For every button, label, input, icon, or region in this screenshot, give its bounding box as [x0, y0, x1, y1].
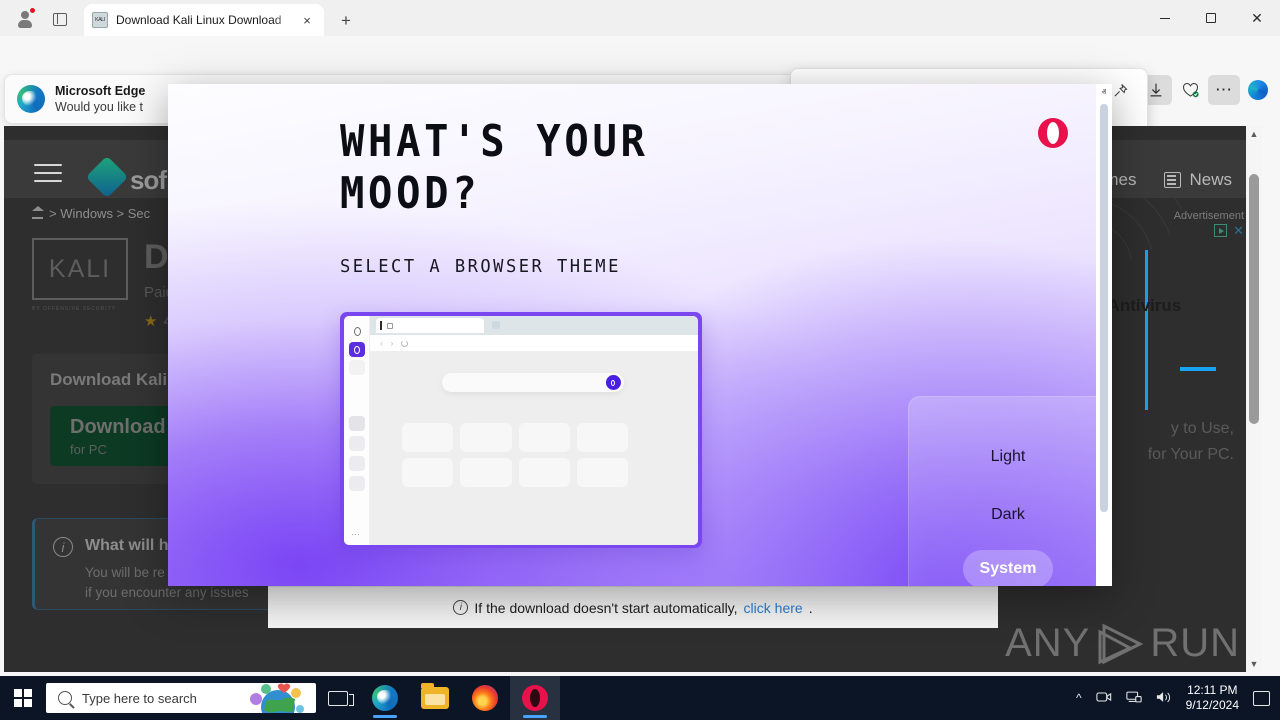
- page-scrollbar[interactable]: ▲ ▼: [1246, 126, 1262, 672]
- preview-sidebar-active-item: [349, 342, 365, 357]
- anyrun-watermark: ANY RUN: [1005, 621, 1240, 666]
- taskbar-clock[interactable]: 12:11 PM 9/12/2024: [1186, 683, 1239, 713]
- profile-button[interactable]: [12, 6, 38, 32]
- breadcrumb-text: > Windows > Sec: [49, 206, 150, 221]
- tab-title: Download Kali Linux Download: [116, 13, 298, 27]
- app-logo-text: KALI: [49, 255, 111, 284]
- search-illustration: [226, 683, 312, 713]
- preview-forward-icon: ›: [391, 339, 394, 348]
- preview-speed-dial: [370, 351, 698, 545]
- preview-tile: [577, 458, 628, 487]
- opera-theme-dialog: WHAT'S YOUR MOOD? SELECT A BROWSER THEME…: [168, 84, 1112, 586]
- softonic-logo-icon: [86, 156, 128, 198]
- ad-line-2: for Your PC.: [1148, 446, 1234, 464]
- browser-theme-preview: ⋯ ‹ ›: [340, 312, 702, 548]
- dialog-scroll-track[interactable]: [1096, 100, 1112, 570]
- search-icon: [58, 691, 72, 705]
- download-button-sublabel: for PC: [70, 442, 107, 457]
- preview-sidebar-more-icon: ⋯: [351, 532, 361, 536]
- network-icon[interactable]: [1126, 690, 1142, 707]
- dialog-scroll-down-icon[interactable]: ⱟ: [1096, 570, 1112, 586]
- close-icon: ✕: [1251, 11, 1263, 25]
- info-panel-line2: if you encounter any issues: [85, 585, 249, 600]
- browser-essentials-button[interactable]: [1174, 75, 1206, 105]
- tab-close-icon[interactable]: ×: [298, 11, 316, 29]
- system-tray: ^ 12:11 PM 9/12/2024: [1076, 683, 1280, 713]
- preview-tile: [519, 458, 570, 487]
- file-explorer-icon: [421, 687, 449, 709]
- ad-accent-bar-horizontal: [1180, 367, 1216, 371]
- preview-tile: [519, 423, 570, 452]
- preview-tile: [402, 423, 453, 452]
- preview-new-tab-icon: [492, 321, 500, 329]
- info-panel-title: What will ha: [85, 537, 177, 555]
- window-controls: ✕: [1142, 0, 1280, 36]
- theme-option-system[interactable]: System: [963, 550, 1053, 586]
- menu-icon[interactable]: [34, 164, 62, 182]
- nav-item-news[interactable]: News: [1164, 170, 1232, 190]
- star-icon: ★: [144, 312, 157, 330]
- page-scrollbar-thumb[interactable]: [1249, 174, 1259, 424]
- home-icon: [32, 209, 43, 219]
- banner-period: .: [809, 600, 813, 616]
- ad-line-1: y to Use,: [1171, 420, 1234, 438]
- banner-text: If the download doesn't start automatica…: [474, 600, 737, 616]
- ad-play-icon[interactable]: [1214, 224, 1227, 237]
- site-nav: ames News: [1095, 170, 1232, 190]
- camera-icon[interactable]: [1096, 690, 1112, 707]
- scroll-down-arrow-icon[interactable]: ▼: [1246, 656, 1262, 672]
- task-view-icon: [328, 691, 348, 706]
- clock-time: 12:11 PM: [1187, 683, 1237, 698]
- minimize-icon: [1160, 18, 1170, 19]
- taskbar-app-file-explorer[interactable]: [410, 676, 460, 720]
- dialog-subheadline: SELECT A BROWSER THEME: [340, 256, 621, 277]
- opera-logo-icon: [1038, 118, 1068, 148]
- maximize-button[interactable]: [1188, 0, 1234, 36]
- anyrun-text-run: RUN: [1150, 621, 1240, 666]
- search-placeholder: Type here to search: [82, 691, 197, 706]
- preview-tile: [402, 458, 453, 487]
- app-logo: KALI: [32, 238, 128, 300]
- edge-prompt-text: Microsoft Edge Would you like t: [55, 83, 145, 116]
- microsoft-edge-icon: [372, 685, 398, 711]
- preview-sidebar-item: [349, 456, 365, 471]
- tab-actions-glyph: [53, 13, 67, 26]
- ad-headline: e Antivirus: [1094, 296, 1244, 316]
- task-view-button[interactable]: [316, 676, 360, 720]
- ad-accent-bar-vertical: [1145, 250, 1148, 410]
- info-panel-line1: You will be re: [85, 565, 165, 580]
- preview-tile: [577, 423, 628, 452]
- more-options-icon: ⋯: [1215, 86, 1233, 94]
- theme-option-light[interactable]: Light: [991, 448, 1026, 466]
- preview-back-icon: ‹: [380, 339, 383, 348]
- preview-sidebar-item: [349, 476, 365, 491]
- show-hidden-icons-icon[interactable]: ^: [1076, 691, 1082, 705]
- preview-reload-icon: [401, 340, 408, 347]
- download-button-label: Download: [70, 416, 166, 439]
- preview-tabbar: [370, 316, 698, 335]
- screen: KALI Download Kali Linux Download × + ✕ …: [0, 0, 1280, 720]
- taskbar-app-edge[interactable]: [360, 676, 410, 720]
- dialog-headline: WHAT'S YOUR MOOD?: [340, 116, 736, 220]
- maximize-icon: [1206, 13, 1216, 23]
- dialog-scroll-up-icon[interactable]: ⱏ: [1096, 84, 1112, 100]
- dialog-scrollbar-thumb[interactable]: [1100, 104, 1108, 512]
- preview-tab-favicon-icon: [387, 323, 393, 329]
- copilot-icon: [1248, 80, 1268, 100]
- theme-selector-panel: Light Dark System: [908, 396, 1108, 586]
- tab-favicon-icon: KALI: [92, 12, 108, 28]
- preview-tiles: [402, 423, 628, 487]
- info-icon: i: [53, 537, 73, 557]
- opera-icon: [522, 685, 548, 711]
- app-logo-subtext: BY OFFENSIVE SECURITY: [32, 306, 116, 312]
- theme-option-dark[interactable]: Dark: [991, 506, 1025, 524]
- banner-click-here-link[interactable]: click here: [744, 600, 803, 616]
- windows-logo-icon: [14, 689, 32, 707]
- settings-and-more-button[interactable]: ⋯: [1208, 75, 1240, 105]
- windows-taskbar: Type here to search ^: [0, 676, 1280, 720]
- dialog-scrollbar[interactable]: ⱏ ⱟ: [1096, 84, 1112, 586]
- new-tab-button[interactable]: +: [333, 8, 359, 32]
- news-icon: [1164, 172, 1181, 188]
- clock-date: 9/12/2024: [1186, 698, 1239, 713]
- browser-titlebar: KALI Download Kali Linux Download × + ✕: [0, 0, 1280, 36]
- start-button[interactable]: [0, 676, 46, 720]
- preview-opera-icon: [349, 324, 365, 339]
- preview-sidebar-item: [349, 360, 365, 375]
- preview-sidebar-item: [349, 416, 365, 431]
- taskbar-search-box[interactable]: Type here to search: [46, 683, 316, 713]
- edge-prompt-subtitle: Would you like t: [55, 99, 145, 116]
- advertisement-creative[interactable]: e Antivirus y to Use, for Your PC.: [1089, 250, 1244, 550]
- preview-tab: [376, 318, 484, 333]
- preview-window: ⋯ ‹ ›: [344, 316, 698, 545]
- copilot-button[interactable]: [1242, 75, 1274, 105]
- volume-icon[interactable]: [1156, 690, 1172, 707]
- tab-actions-icon[interactable]: [46, 7, 74, 31]
- preview-search-field: [441, 373, 623, 392]
- softonic-wordmark: sof: [130, 165, 166, 196]
- close-button[interactable]: ✕: [1234, 0, 1280, 36]
- breadcrumb[interactable]: > Windows > Sec: [32, 206, 150, 221]
- preview-address-bar: ‹ ›: [372, 335, 696, 351]
- edge-prompt-title: Microsoft Edge: [55, 83, 145, 99]
- preview-tile: [460, 458, 511, 487]
- notification-center-icon[interactable]: [1253, 691, 1270, 706]
- firefox-icon: [472, 685, 498, 711]
- anyrun-play-icon: [1096, 622, 1144, 666]
- scroll-up-arrow-icon[interactable]: ▲: [1246, 126, 1262, 142]
- taskbar-app-opera[interactable]: [510, 676, 560, 720]
- ad-close-icon[interactable]: ✕: [1233, 224, 1244, 237]
- nav-item-news-label: News: [1189, 170, 1232, 190]
- banner-info-icon: i: [453, 600, 468, 615]
- profile-alert-dot: [29, 7, 36, 14]
- browser-tab[interactable]: KALI Download Kali Linux Download ×: [84, 4, 324, 36]
- preview-tile: [460, 423, 511, 452]
- preview-search-button-icon: [605, 375, 620, 390]
- preview-sidebar: ⋯: [344, 316, 370, 545]
- preview-sidebar-item: [349, 436, 365, 451]
- minimize-button[interactable]: [1142, 0, 1188, 36]
- microsoft-edge-icon: [17, 85, 45, 113]
- download-status-banner: i If the download doesn't start automati…: [268, 586, 998, 628]
- download-panel-title: Download Kali: [50, 370, 167, 390]
- anyrun-text-any: ANY: [1005, 621, 1090, 666]
- taskbar-app-firefox[interactable]: [460, 676, 510, 720]
